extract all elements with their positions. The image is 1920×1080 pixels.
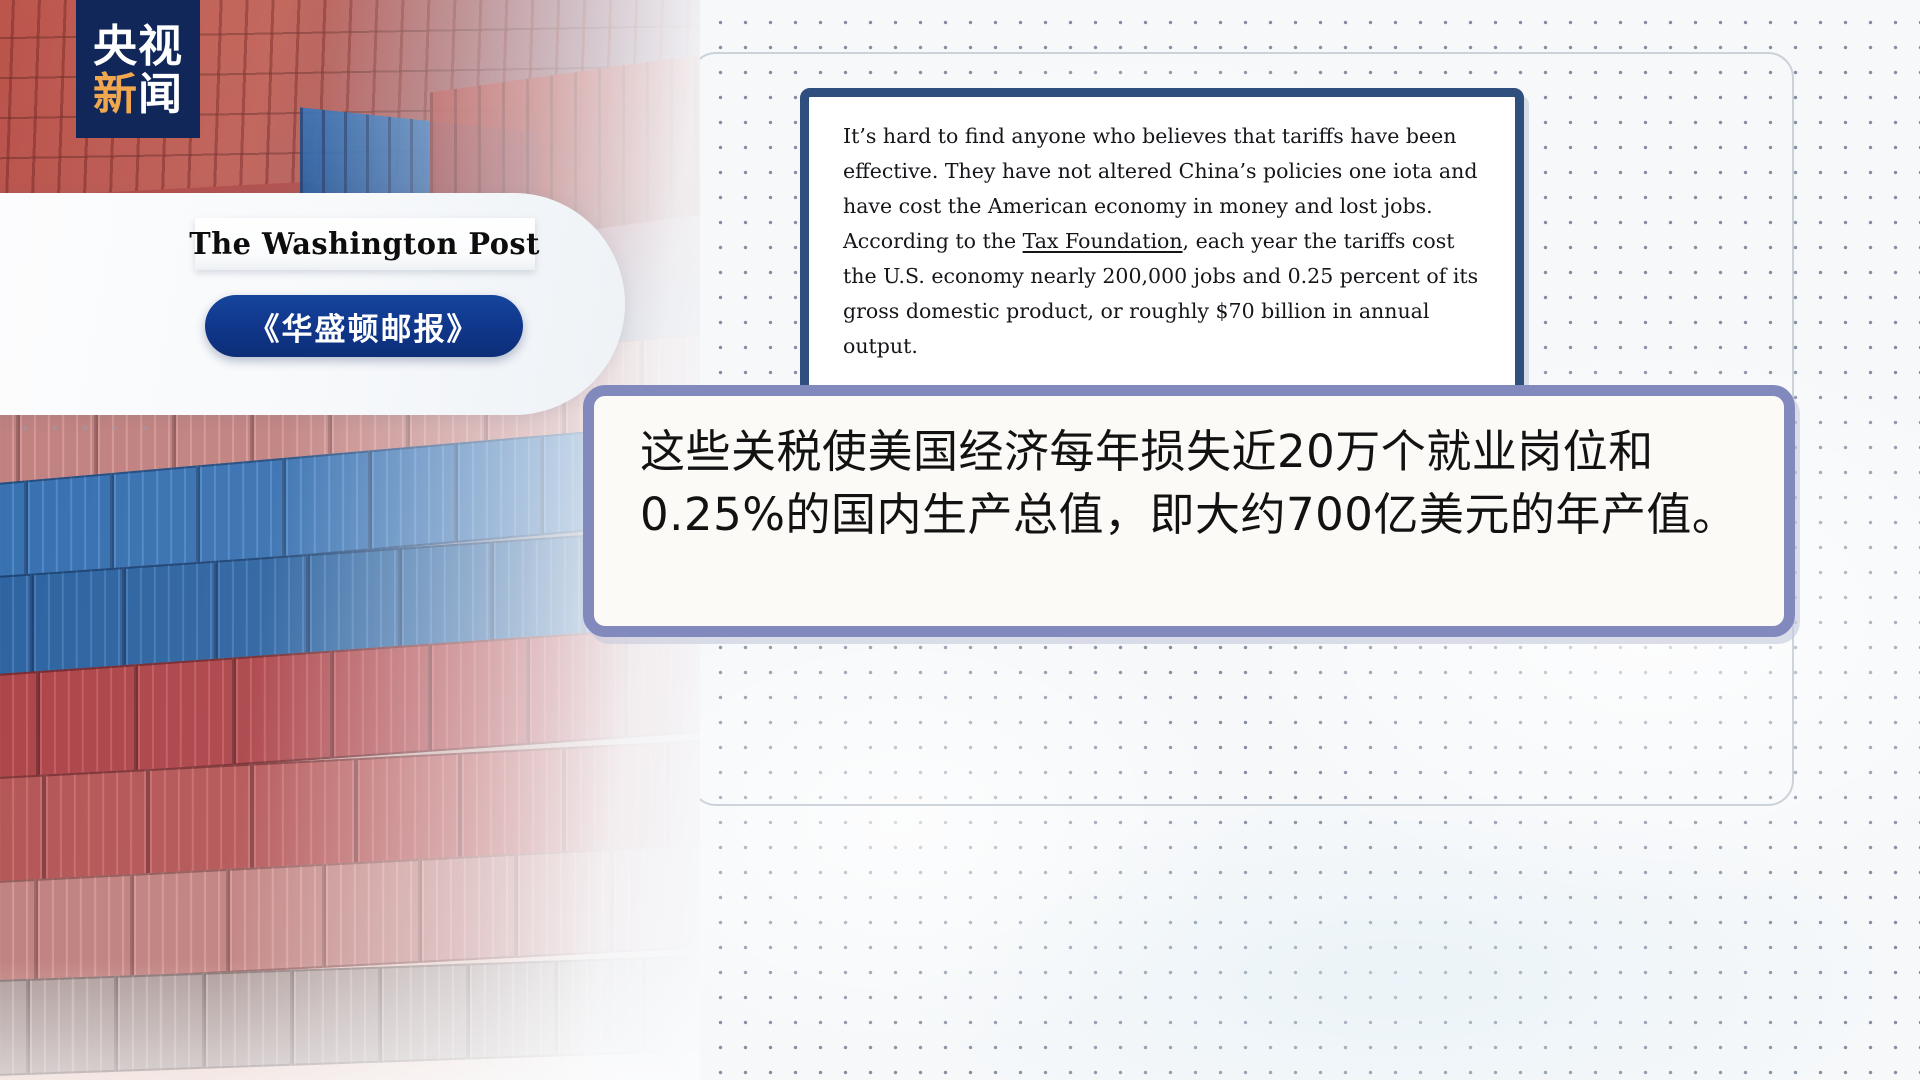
washington-post-masthead-text: The Washington Post bbox=[190, 227, 541, 262]
cctv-logo-line-1: 央视 bbox=[93, 25, 183, 69]
cctv-news-logo: 央视 新 闻 bbox=[76, 0, 200, 138]
washington-post-masthead: The Washington Post bbox=[195, 218, 535, 270]
source-chinese-name-text: 《华盛顿邮报》 bbox=[249, 304, 480, 349]
chinese-translation-text: 这些关税使美国经济每年损失近20万个就业岗位和0.25%的国内生产总值，即大约7… bbox=[594, 396, 1784, 546]
cctv-logo-xin: 新 bbox=[93, 73, 138, 117]
cctv-logo-wen: 闻 bbox=[138, 73, 183, 117]
source-chinese-name-badge: 《华盛顿邮报》 bbox=[205, 295, 523, 357]
cctv-logo-line-2: 新 闻 bbox=[93, 73, 183, 117]
chinese-translation-card: 这些关税使美国经济每年损失近20万个就业岗位和0.25%的国内生产总值，即大约7… bbox=[583, 385, 1795, 637]
cctv-logo-yangshi: 央视 bbox=[93, 25, 183, 69]
english-quote-text: It’s hard to find anyone who believes th… bbox=[809, 97, 1515, 364]
tax-foundation-link[interactable]: Tax Foundation bbox=[1023, 229, 1183, 253]
news-graphic-canvas: 央视 新 闻 The Washington Post 《华盛顿邮报》 It’s … bbox=[0, 0, 1920, 1080]
photo-bottom-fade bbox=[0, 960, 700, 1080]
